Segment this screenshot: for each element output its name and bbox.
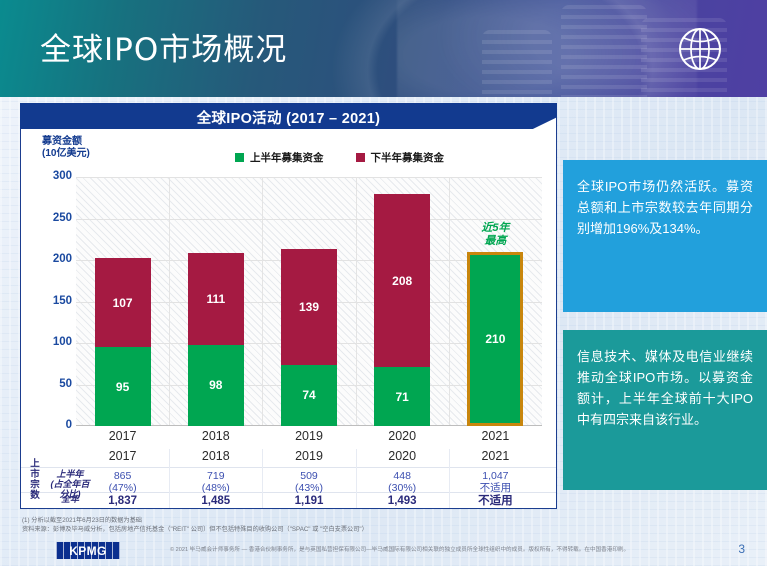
table-h1-count-2021: 1,047 (455, 470, 535, 482)
y-axis-caption: 募资金额 (10亿美元) (42, 136, 90, 160)
table-cell-full-year-2019: 1,191 (269, 495, 349, 507)
side-panel-sector-insight: 信息技术、媒体及电信业继续推动全球IPO市场。以募资金额计，上半年全球前十大IP… (563, 330, 767, 490)
bar-value-h2-2018: 111 (206, 292, 225, 306)
side-panel-market-activity: 全球IPO市场仍然活跃。募资总额和上市宗数较去年同期分别增加196%及134%。 (563, 160, 767, 312)
legend-label-0: 上半年募集资金 (250, 150, 324, 165)
table-h1-count-2018: 719 (176, 470, 256, 482)
y-tick-100: 100 (30, 336, 72, 348)
legend-swatch-icon-1 (356, 153, 365, 162)
table-h1-share-2021: 不适用 (455, 482, 535, 494)
chart-plot-area: 95107981117413971208210近5年最高 (76, 177, 542, 426)
footnotes: (1) 分析以截至2021年6月23日的数据为基础 资料来源：彭博及毕马威分析，… (22, 516, 562, 534)
x-axis-tick-labels: 20172018201920202021 (76, 427, 542, 449)
legend-label-1: 下半年募集资金 (371, 150, 445, 165)
table-full-year-count-2021: 不适用 (455, 495, 535, 507)
y-axis-caption-line1: 募资金额 (42, 136, 90, 148)
header-coin-stack-1 (561, 5, 647, 97)
x-tick-2017: 2017 (83, 429, 163, 443)
table-full-year-count-2020: 1,493 (362, 495, 442, 507)
chart-legend: 上半年募集资金下半年募集资金 (235, 150, 444, 165)
table-header-2019: 2019 (269, 450, 349, 462)
bar-segment-h2-2019[interactable]: 139 (281, 249, 337, 364)
bar-value-h1-2021: 210 (485, 332, 505, 346)
legend-item-0: 上半年募集资金 (235, 150, 324, 165)
bar-segment-h2-2020[interactable]: 208 (374, 194, 430, 367)
table-cell-full-year-2018: 1,485 (176, 495, 256, 507)
bar-highlight-annotation: 近5年最高 (455, 222, 535, 248)
bar-value-h1-2018: 98 (209, 378, 222, 392)
footnote-1: (1) 分析以截至2021年6月23日的数据为基础 (22, 516, 562, 525)
table-cell-h1-2018: 719(48%) (176, 470, 256, 494)
table-header-label-2021: 2021 (455, 450, 535, 462)
bar-value-h1-2019: 74 (302, 388, 315, 402)
legend-swatch-icon-0 (235, 153, 244, 162)
table-h1-share-2020: (30%) (362, 482, 442, 494)
bar-segment-h1-2020[interactable]: 71 (374, 367, 430, 426)
bar-value-h2-2019: 139 (299, 300, 319, 314)
table-h1-share-2018: (48%) (176, 482, 256, 494)
table-header-label-2018: 2018 (176, 450, 256, 462)
side-panel-1-text: 全球IPO市场仍然活跃。募资总额和上市宗数较去年同期分别增加196%及134%。 (577, 176, 753, 239)
footnote-2: 资料来源：彭博及毕马威分析，包括房地产信托基金（"REIT" 公司）但不包括特殊… (22, 525, 562, 534)
page-header: 全球IPO市场概况 (0, 0, 767, 97)
bar-value-h2-2017: 107 (113, 296, 133, 310)
x-tick-2021: 2021 (455, 429, 535, 443)
table-h1-share-2019: (43%) (269, 482, 349, 494)
y-tick-200: 200 (30, 253, 72, 265)
bar-value-h1-2017: 95 (116, 380, 129, 394)
table-cell-h1-2019: 509(43%) (269, 470, 349, 494)
x-tick-2019: 2019 (269, 429, 349, 443)
bar-segment-h2-2017[interactable]: 107 (95, 258, 151, 347)
table-full-year-count-2018: 1,485 (176, 495, 256, 507)
table-cell-h1-2021: 1,047不适用 (455, 470, 535, 494)
copyright-text: © 2021 毕马威会计师事务所 — 香港合伙制事务所，是与英国私营担保有限公司… (170, 546, 650, 554)
bar-segment-h1-2019[interactable]: 74 (281, 365, 337, 426)
listings-table: 上市宗数 上半年 (占全年百 分比) 全年 2017865(47%)1,8372… (21, 449, 556, 508)
bar-annotation-line1: 近5年 (455, 222, 535, 235)
table-full-year-count-2017: 1,837 (83, 495, 163, 507)
page-number: 3 (738, 542, 745, 556)
legend-item-1: 下半年募集资金 (356, 150, 445, 165)
table-cell-full-year-2020: 1,493 (362, 495, 442, 507)
table-header-2017: 2017 (83, 450, 163, 462)
x-tick-2020: 2020 (362, 429, 442, 443)
bar-segment-h1-2018[interactable]: 98 (188, 345, 244, 426)
table-header-label-2017: 2017 (83, 450, 163, 462)
bar-value-h1-2020: 71 (396, 390, 409, 404)
table-h1-count-2017: 865 (83, 470, 163, 482)
kpmg-logo: KPMG (56, 542, 120, 559)
table-full-year-count-2019: 1,191 (269, 495, 349, 507)
y-tick-0: 0 (30, 419, 72, 431)
globe-icon (675, 24, 725, 74)
bar-segment-h1-2021[interactable]: 210 (467, 252, 523, 426)
table-cell-h1-2020: 448(30%) (362, 470, 442, 494)
table-cell-full-year-2021: 不适用 (455, 495, 535, 507)
header-coin-stack-3 (482, 30, 552, 97)
table-header-2021: 2021 (455, 450, 535, 462)
page-title: 全球IPO市场概况 (40, 24, 287, 69)
table-cell-h1-2017: 865(47%) (83, 470, 163, 494)
bar-segment-h1-2017[interactable]: 95 (95, 347, 151, 426)
table-header-label-2019: 2019 (269, 450, 349, 462)
page-footer: KPMG © 2021 毕马威会计师事务所 — 香港合伙制事务所，是与英国私营担… (0, 536, 767, 566)
table-header-label-2020: 2020 (362, 450, 442, 462)
table-cell-full-year-2017: 1,837 (83, 495, 163, 507)
chart-title: 全球IPO活动 (2017 – 2021) (20, 107, 557, 128)
table-header-2018: 2018 (176, 450, 256, 462)
table-h1-count-2019: 509 (269, 470, 349, 482)
y-axis-caption-line2: (10亿美元) (42, 148, 90, 160)
y-tick-150: 150 (30, 295, 72, 307)
bar-segment-h2-2018[interactable]: 111 (188, 253, 244, 345)
y-tick-300: 300 (30, 170, 72, 182)
table-h1-share-2017: (47%) (83, 482, 163, 494)
y-axis-tick-labels: 050100150200250300 (30, 170, 72, 426)
x-tick-2018: 2018 (176, 429, 256, 443)
bar-annotation-line2: 最高 (455, 235, 535, 248)
table-h1-count-2020: 448 (362, 470, 442, 482)
table-header-2020: 2020 (362, 450, 442, 462)
y-tick-50: 50 (30, 378, 72, 390)
chart-bars: 95107981117413971208210近5年最高 (76, 177, 542, 426)
side-panel-2-text: 信息技术、媒体及电信业继续推动全球IPO市场。以募资金额计，上半年全球前十大IP… (577, 346, 753, 430)
y-tick-250: 250 (30, 212, 72, 224)
table-vertical-label: 上市宗数 (25, 453, 41, 505)
chart-title-bar: 全球IPO活动 (2017 – 2021) (20, 103, 557, 129)
bar-value-h2-2020: 208 (392, 274, 412, 288)
